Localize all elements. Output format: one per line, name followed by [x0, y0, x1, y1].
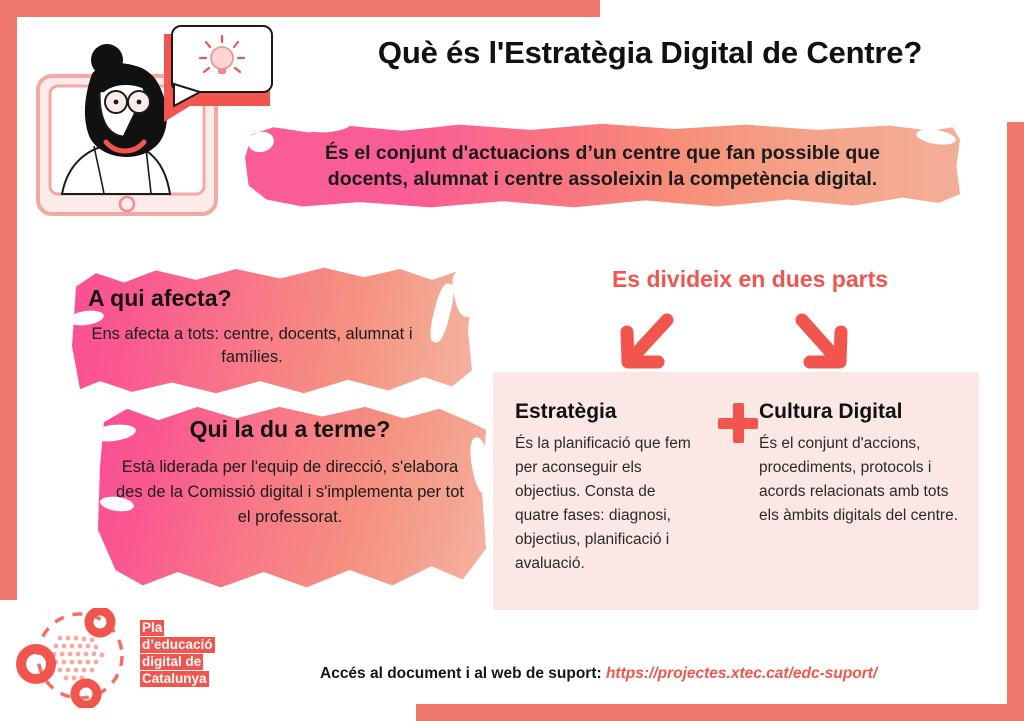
logo-line-2: d’educació	[140, 637, 215, 653]
arrow-down-right-icon	[790, 312, 852, 374]
banner-text: És el conjunt d'actuacions d’un centre q…	[245, 122, 960, 210]
banner-line-1: És el conjunt d'actuacions d’un centre q…	[325, 140, 880, 166]
footer-access-line: Accés al document i al web de suport: ht…	[320, 665, 877, 683]
decorative-right-bar	[1007, 122, 1024, 721]
affects-section: A qui afecta? Ens afecta a tots: centre,…	[72, 285, 432, 369]
decorative-bottom-bar	[416, 704, 1024, 721]
decorative-left-bar	[0, 0, 17, 600]
pla-educacio-digital-logo: Pla d’educació digital de Catalunya	[14, 608, 244, 708]
culture-heading: Cultura Digital	[759, 400, 961, 424]
arrow-down-left-icon	[615, 312, 677, 374]
affects-body: Ens afecta a tots: centre, docents, alum…	[72, 323, 432, 369]
support-url-link[interactable]: https://projectes.xtec.cat/edc-suport/	[606, 665, 877, 682]
plus-icon	[718, 403, 758, 443]
strategy-heading: Estratègia	[515, 400, 701, 424]
affects-heading: A qui afecta?	[88, 285, 432, 312]
logo-line-3: digital de	[140, 654, 203, 670]
person-on-tablet-illustration	[24, 14, 279, 219]
responsible-heading: Qui la du a terme?	[110, 416, 470, 443]
logo-line-1: Pla	[140, 620, 164, 636]
summary-banner: És el conjunt d'actuacions d’un centre q…	[245, 122, 960, 210]
brush-texture-nick	[449, 269, 478, 318]
logo-line-4: Catalunya	[140, 671, 209, 687]
brush-texture-nick	[467, 436, 495, 496]
infographic-canvas: Què és l'Estratègia Digital de Centre? É…	[0, 0, 1024, 721]
page-title: Què és l'Estratègia Digital de Centre?	[300, 35, 1000, 71]
logo-wordmark: Pla d’educació digital de Catalunya	[140, 620, 250, 688]
divide-heading: Es divideix en dues parts	[540, 266, 960, 293]
banner-line-2: docents, alumnat i centre assoleixin la …	[328, 166, 877, 192]
footer-label: Accés al document i al web de suport:	[320, 665, 602, 682]
culture-body: És el conjunt d'accions, procediments, p…	[759, 432, 961, 528]
logo-mark-icon	[14, 608, 144, 708]
responsible-section: Qui la du a terme? Està liderada per l'e…	[110, 416, 470, 530]
strategy-column: Estratègia És la planificació que fem pe…	[493, 372, 717, 610]
plus-vertical-bar	[733, 403, 744, 443]
responsible-body: Està liderada per l'equip de direcció, s…	[110, 455, 470, 530]
strategy-body: És la planificació que fem per aconsegui…	[515, 432, 701, 576]
